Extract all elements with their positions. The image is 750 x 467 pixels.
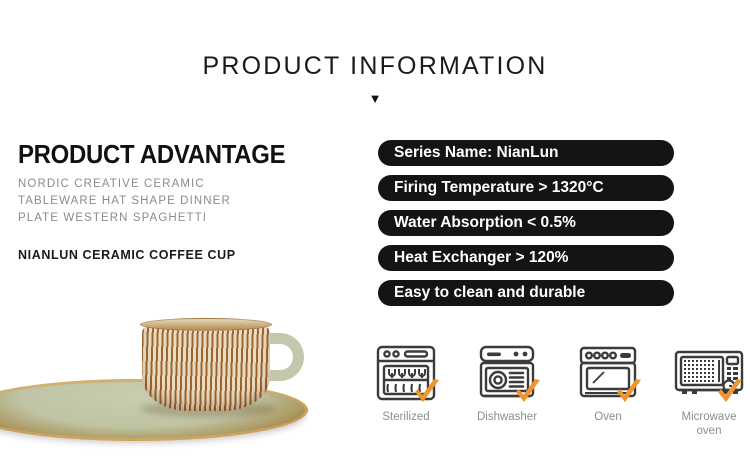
feature-dishwasher: Dishwasher (469, 344, 545, 424)
feature-microwave-oven: Microwave oven (671, 344, 747, 438)
description-line-3: PLATE WESTERN SPAGHETTI (18, 210, 231, 227)
check-icon (412, 378, 442, 406)
spec-badge-water-absorption: Water Absorption < 0.5% (378, 210, 674, 236)
page-title: PRODUCT INFORMATION (0, 52, 750, 81)
oven-icon (570, 344, 646, 406)
spec-badge-list: Series Name: NianLun Firing Temperature … (378, 140, 674, 315)
sterilizer-cabinet-icon (368, 344, 444, 406)
triangle-down-icon: ▼ (0, 92, 750, 105)
spec-badge-heat-exchanger: Heat Exchanger > 120% (378, 245, 674, 271)
feature-label-dishwasher: Dishwasher (469, 410, 545, 424)
dishwasher-icon (469, 344, 545, 406)
spec-badge-easy-to-clean: Easy to clean and durable (378, 280, 674, 306)
feature-label-sterilized: Sterilized (368, 410, 444, 424)
feature-label-oven: Oven (570, 410, 646, 424)
description-line-1: NORDIC CREATIVE CERAMIC (18, 176, 231, 193)
product-information-banner: PRODUCT INFORMATION ▼ PRODUCT ADVANTAGE … (0, 0, 750, 467)
spec-badge-series-name: Series Name: NianLun (378, 140, 674, 166)
feature-label-microwave-oven: Microwave oven (671, 410, 747, 438)
check-icon (614, 378, 644, 406)
product-photo (0, 286, 368, 467)
feature-oven: Oven (570, 344, 646, 424)
feature-sterilized: Sterilized (368, 344, 444, 424)
spec-badge-firing-temperature: Firing Temperature > 1320°C (378, 175, 674, 201)
check-icon (513, 378, 543, 406)
check-icon (715, 378, 745, 406)
cup-body (142, 325, 270, 411)
description-line-2: TABLEWARE HAT SHAPE DINNER (18, 193, 231, 210)
product-advantage-description: NORDIC CREATIVE CERAMIC TABLEWARE HAT SH… (18, 176, 231, 227)
cup-rim (140, 318, 272, 331)
product-advantage-heading: PRODUCT ADVANTAGE (18, 139, 285, 170)
microwave-oven-icon (671, 344, 747, 406)
product-name-line: NIANLUN CERAMIC COFFEE CUP (18, 248, 236, 262)
feature-icon-list: Sterilized (368, 344, 750, 438)
